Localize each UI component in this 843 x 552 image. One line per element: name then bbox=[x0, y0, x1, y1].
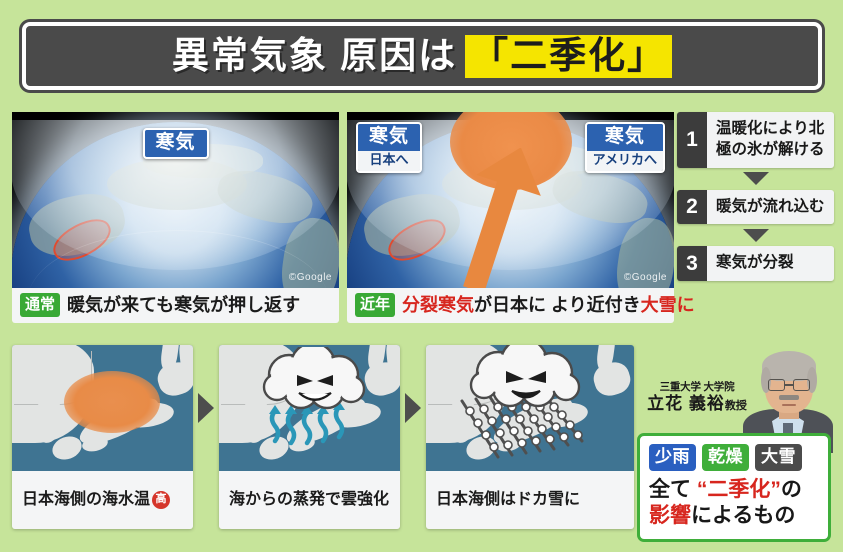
tag-dryness: 乾燥 bbox=[702, 444, 749, 471]
caption-text-recent-red1: 分裂寒気 bbox=[402, 295, 474, 315]
globe-caption-normal: 通常 暖気が来ても寒気が押し返す bbox=[12, 288, 339, 323]
high-temperature-badge: 高 bbox=[152, 491, 170, 509]
expert-name: 立花 義裕 bbox=[647, 394, 725, 413]
cold-air-label-america-sub: アメリカへ bbox=[587, 151, 663, 171]
caption-text-recent-mid: が日本に より近付き bbox=[474, 295, 641, 315]
expert-name-block: 三重大学 大学院 立花 義裕教授 bbox=[643, 381, 751, 414]
caption-badge-normal: 通常 bbox=[20, 293, 60, 317]
step-arrow-1 bbox=[677, 168, 834, 190]
sequence-card-sst: 日本海側の海水温高 bbox=[12, 345, 193, 529]
map-evaporation bbox=[219, 345, 400, 471]
warm-air-arrow-icon bbox=[455, 148, 567, 288]
sequence-caption-sst: 日本海側の海水温高 bbox=[12, 471, 193, 529]
cold-air-label-japan-text: 寒気 bbox=[358, 124, 420, 151]
caption-text-normal: 暖気が来ても寒気が押し返す bbox=[67, 296, 300, 314]
conclusion-line-2: 影響によるもの bbox=[649, 503, 820, 529]
conclusion-line-1: 全て “二季化”の bbox=[649, 477, 820, 503]
infographic-root: 異常気象 原因は「二季化」 寒気 ©Google 通常 暖気が来ても寒気が押し返… bbox=[0, 0, 843, 552]
expert-block: 三重大学 大学院 立花 義裕教授 少雨 乾燥 大雪 全て “二季化”の 影響によ… bbox=[637, 345, 837, 545]
sequence-arrow-1 bbox=[193, 345, 219, 471]
expert-title: 教授 bbox=[725, 400, 747, 412]
caption-text-recent: 分裂寒気が日本に より近付き大雪に bbox=[402, 296, 695, 314]
mechanism-steps: 1 温暖化により北極の氷が解ける 2 暖気が流れ込む 3 寒気が分裂 bbox=[677, 112, 834, 281]
step-3-text: 寒気が分裂 bbox=[707, 246, 834, 281]
google-watermark-recent: ©Google bbox=[624, 272, 667, 283]
conclusion-line-2-red: 影響 bbox=[649, 504, 691, 527]
globe-image-recent: 寒気 日本へ 寒気 アメリカへ ©Google bbox=[347, 112, 674, 288]
page-title-bar: 異常気象 原因は「二季化」 bbox=[22, 22, 822, 90]
expert-affiliation: 三重大学 大学院 bbox=[643, 381, 751, 394]
page-title-highlight: 「二季化」 bbox=[465, 35, 672, 78]
step-arrow-2 bbox=[677, 224, 834, 246]
step-1: 1 温暖化により北極の氷が解ける bbox=[677, 112, 834, 168]
cold-air-label: 寒気 bbox=[142, 128, 208, 159]
step-3: 3 寒気が分裂 bbox=[677, 246, 834, 281]
sequence-caption-snow: 日本海側はドカ雪に bbox=[426, 471, 634, 529]
map-sea-temperature bbox=[12, 345, 193, 471]
step-2-number: 2 bbox=[677, 190, 707, 225]
cold-air-label-japan: 寒気 日本へ bbox=[356, 122, 422, 173]
conclusion-box: 少雨 乾燥 大雪 全て “二季化”の 影響によるもの bbox=[637, 433, 831, 542]
warm-sea-area bbox=[64, 371, 160, 433]
globe-image-normal: 寒気 ©Google bbox=[12, 112, 339, 288]
process-sequence: 日本海側の海水温高 bbox=[12, 345, 634, 529]
sequence-caption-evaporation: 海からの蒸発で雲強化 bbox=[219, 471, 400, 529]
step-3-number: 3 bbox=[677, 246, 707, 281]
page-title: 異常気象 原因は「二季化」 bbox=[172, 35, 672, 78]
sequence-card-snow: 日本海側はドカ雪に bbox=[426, 345, 634, 529]
tag-low-rain: 少雨 bbox=[649, 444, 696, 471]
chevron-down-icon-2 bbox=[743, 229, 769, 242]
globe-panel-normal: 寒気 ©Google 通常 暖気が来ても寒気が押し返す bbox=[12, 112, 339, 323]
sequence-arrow-2 bbox=[400, 345, 426, 471]
conclusion-line-1-red: “二季化” bbox=[697, 478, 781, 501]
sequence-caption-sst-text: 日本海側の海水温 bbox=[22, 489, 150, 510]
sequence-card-evaporation: 海からの蒸発で雲強化 bbox=[219, 345, 400, 529]
globe-panel-recent: 寒気 日本へ 寒気 アメリカへ ©Google 近年 分裂寒気が日本に より近付… bbox=[347, 112, 674, 323]
page-title-main: 異常気象 原因は bbox=[172, 35, 457, 76]
step-1-number: 1 bbox=[677, 112, 707, 168]
chevron-right-icon bbox=[198, 393, 214, 423]
cold-air-label-text: 寒気 bbox=[144, 130, 206, 157]
conclusion-line-2-plain: によるもの bbox=[691, 504, 795, 527]
cold-air-label-america: 寒気 アメリカへ bbox=[585, 122, 665, 173]
caption-badge-recent: 近年 bbox=[355, 293, 395, 317]
globe-caption-recent: 近年 分裂寒気が日本に より近付き大雪に bbox=[347, 288, 674, 323]
caption-text-recent-red2: 大雪に bbox=[641, 295, 695, 315]
step-2-text: 暖気が流れ込む bbox=[707, 190, 834, 225]
step-1-text: 温暖化により北極の氷が解ける bbox=[707, 112, 834, 168]
step-2: 2 暖気が流れ込む bbox=[677, 190, 834, 225]
angry-cloud-icon bbox=[460, 345, 592, 415]
tag-heavy-snow: 大雪 bbox=[755, 444, 802, 471]
chevron-right-icon-2 bbox=[405, 393, 421, 423]
conclusion-line-1-tail: の bbox=[781, 478, 802, 501]
cold-air-label-america-text: 寒気 bbox=[587, 124, 663, 151]
google-watermark: ©Google bbox=[289, 272, 332, 283]
conclusion-line-1-plain: 全て bbox=[649, 478, 697, 501]
happy-cloud-icon bbox=[255, 347, 375, 419]
map-heavy-snow bbox=[426, 345, 634, 471]
conclusion-tags: 少雨 乾燥 大雪 bbox=[649, 444, 820, 471]
cold-air-label-japan-sub: 日本へ bbox=[358, 151, 420, 171]
chevron-down-icon bbox=[743, 172, 769, 185]
